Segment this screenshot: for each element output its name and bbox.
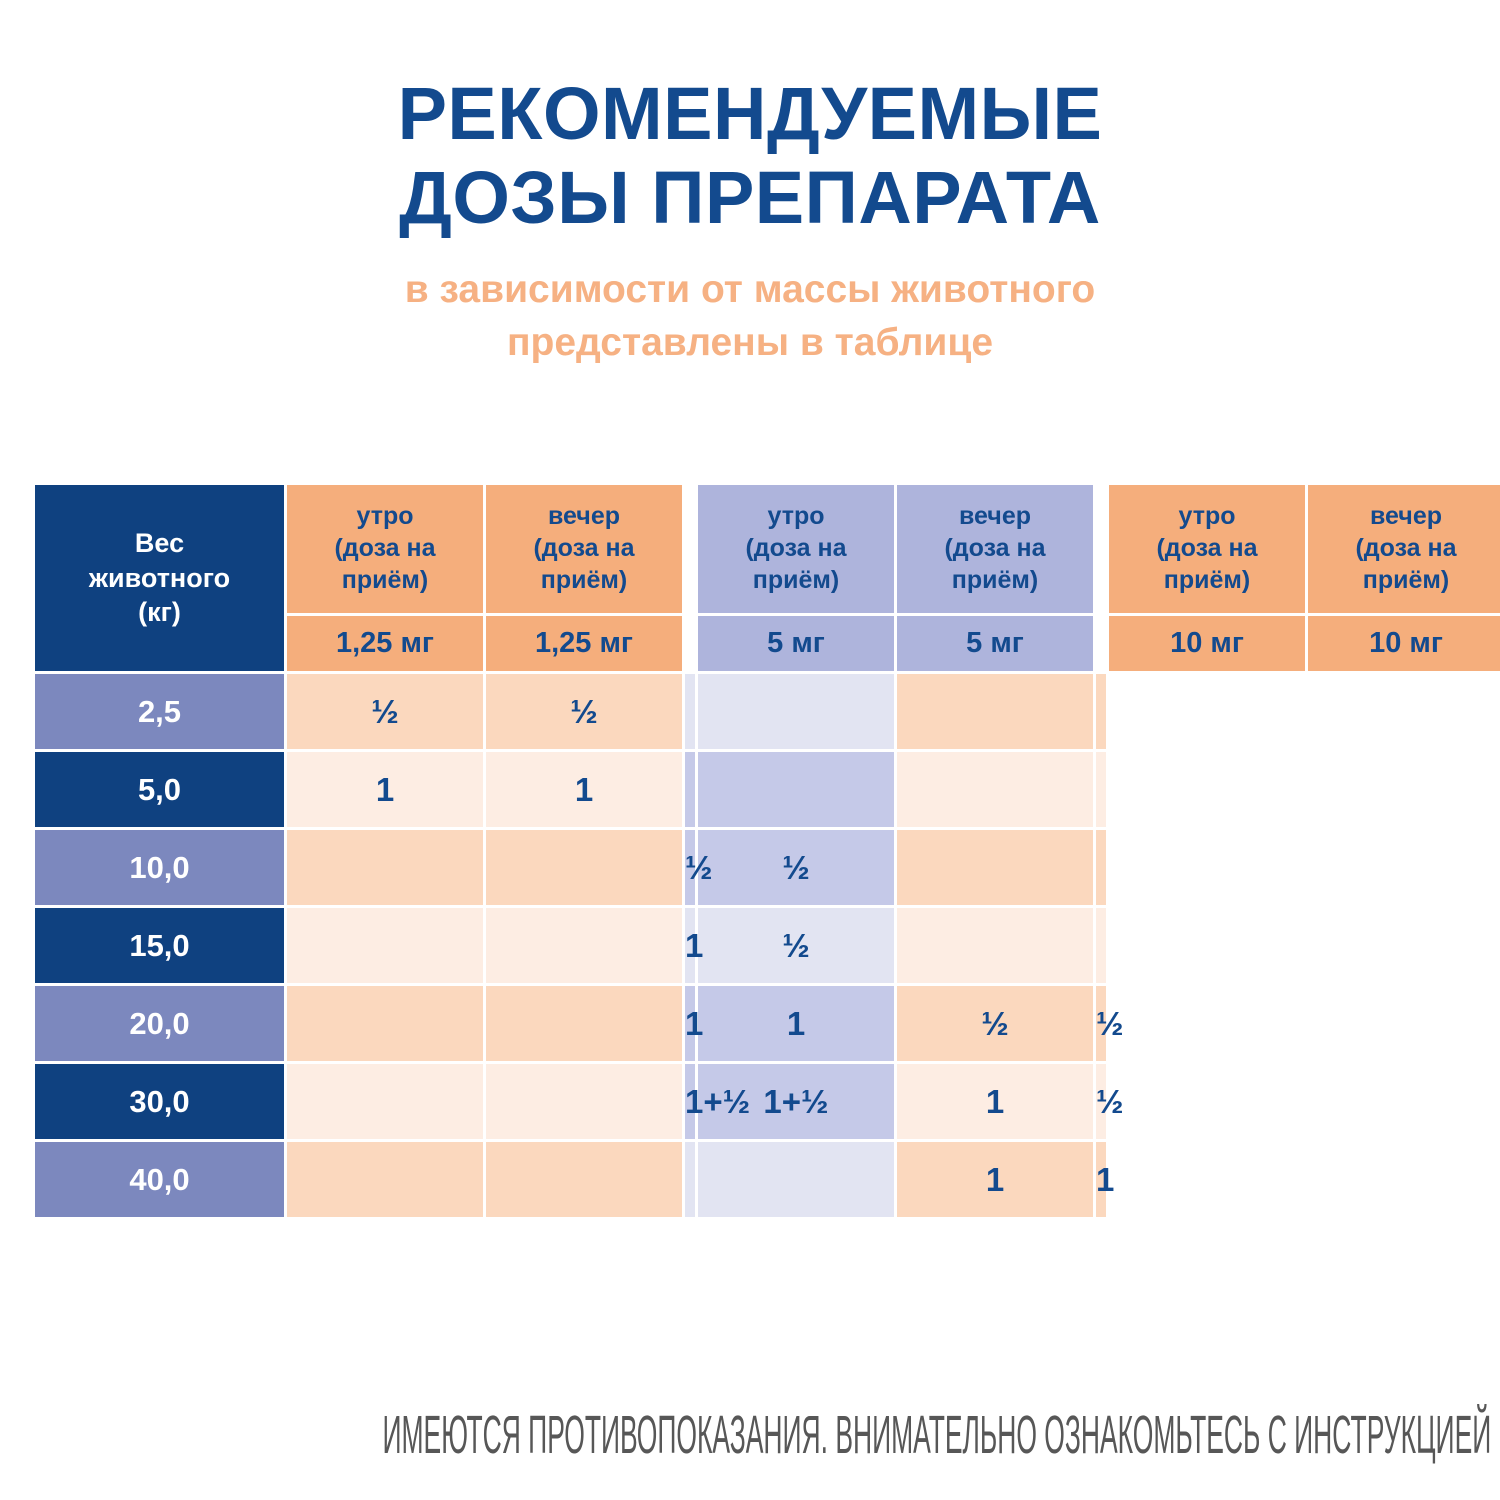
- cell-g3-evening: ½: [1096, 986, 1106, 1061]
- cell-g3-morning: 1: [897, 1064, 1093, 1139]
- group3-morning-period-header: утро (доза на приём): [1109, 485, 1305, 613]
- weight-header-line-3: (кг): [35, 595, 284, 630]
- cell-g1-morning: [287, 1142, 483, 1217]
- table-row: 5,0 1 1: [35, 752, 1500, 827]
- dose-table: Вес животного (кг) утро (доза на приём) …: [32, 482, 1500, 1220]
- period-label-line2: (доза на: [897, 533, 1093, 565]
- page-subtitle-line-2: представлены в таблице: [190, 316, 1310, 369]
- cell-g3-morning: ½: [897, 986, 1093, 1061]
- group3-evening-period-header: вечер (доза на приём): [1308, 485, 1500, 613]
- row-weight-cell: 2,5: [35, 674, 284, 749]
- cell-g2-evening: [698, 1142, 894, 1217]
- group1-morning-period-header: утро (доза на приём): [287, 485, 483, 613]
- period-label-line3: приём): [698, 565, 894, 597]
- group3-evening-dose-header: 10 мг: [1308, 616, 1500, 671]
- period-label-line3: приём): [1308, 565, 1500, 597]
- header-row-periods: Вес животного (кг) утро (доза на приём) …: [35, 485, 1500, 613]
- row-weight-cell: 20,0: [35, 986, 284, 1061]
- table-row: 10,0 ½ ½: [35, 830, 1500, 905]
- cell-g3-morning: [897, 674, 1093, 749]
- weight-header-line-1: Вес: [35, 526, 284, 561]
- disclaimer-text: ИМЕЮТСЯ ПРОТИВОПОКАЗАНИЯ. ВНИМАТЕЛЬНО ОЗ…: [383, 1404, 1118, 1466]
- cell-g1-morning: [287, 986, 483, 1061]
- cell-g2-evening: 1: [698, 986, 894, 1061]
- cell-g1-evening: [486, 908, 682, 983]
- group3-morning-dose-header: 10 мг: [1109, 616, 1305, 671]
- cell-g2-evening: [698, 674, 894, 749]
- cell-g1-morning: 1: [287, 752, 483, 827]
- table-row: 40,0 1 1: [35, 1142, 1500, 1217]
- row-weight-cell: 40,0: [35, 1142, 284, 1217]
- period-label-line2: (доза на: [698, 533, 894, 565]
- dose-table-head: Вес животного (кг) утро (доза на приём) …: [35, 485, 1500, 671]
- cell-g2-morning: 1: [685, 908, 695, 983]
- cell-g3-evening: [1096, 830, 1106, 905]
- cell-g2-evening: ½: [698, 908, 894, 983]
- table-row: 2,5 ½ ½: [35, 674, 1500, 749]
- group-gap-1: [685, 485, 695, 671]
- cell-g1-morning: [287, 830, 483, 905]
- cell-g3-evening: 1: [1096, 1142, 1106, 1217]
- cell-g1-morning: [287, 1064, 483, 1139]
- group1-evening-dose-header: 1,25 мг: [486, 616, 682, 671]
- group1-evening-period-header: вечер (доза на приём): [486, 485, 682, 613]
- group2-evening-dose-header: 5 мг: [897, 616, 1093, 671]
- cell-g1-morning: ½: [287, 674, 483, 749]
- period-label-morning: утро: [1109, 501, 1305, 533]
- page-title: РЕКОМЕНДУЕМЫЕ ДОЗЫ ПРЕПАРАТА: [250, 72, 1250, 239]
- cell-g2-morning: 1: [685, 986, 695, 1061]
- page-subtitle: в зависимости от массы животного предста…: [190, 263, 1310, 369]
- row-weight-cell: 15,0: [35, 908, 284, 983]
- page-title-line-1: РЕКОМЕНДУЕМЫЕ: [398, 72, 1103, 155]
- cell-g3-evening: ½: [1096, 1064, 1106, 1139]
- header-block: РЕКОМЕНДУЕМЫЕ ДОЗЫ ПРЕПАРАТА в зависимос…: [0, 0, 1500, 369]
- period-label-evening: вечер: [486, 501, 682, 533]
- cell-g2-morning: [685, 752, 695, 827]
- cell-g2-morning: [685, 1142, 695, 1217]
- cell-g3-morning: [897, 830, 1093, 905]
- period-label-line3: приём): [1109, 565, 1305, 597]
- cell-g1-morning: [287, 908, 483, 983]
- cell-g1-evening: [486, 986, 682, 1061]
- cell-g2-evening: [698, 752, 894, 827]
- cell-g3-evening: [1096, 752, 1106, 827]
- cell-g3-evening: [1096, 908, 1106, 983]
- cell-g1-evening: ½: [486, 674, 682, 749]
- cell-g2-evening: ½: [698, 830, 894, 905]
- group2-evening-period-header: вечер (доза на приём): [897, 485, 1093, 613]
- dose-table-container: Вес животного (кг) утро (доза на приём) …: [32, 482, 1470, 1220]
- period-label-line3: приём): [897, 565, 1093, 597]
- table-row: 20,0 1 1 ½ ½: [35, 986, 1500, 1061]
- period-label-line2: (доза на: [1109, 533, 1305, 565]
- cell-g3-morning: [897, 908, 1093, 983]
- page-subtitle-line-1: в зависимости от массы животного: [190, 263, 1310, 316]
- page-title-line-2: ДОЗЫ ПРЕПАРАТА: [250, 156, 1250, 240]
- cell-g3-evening: [1096, 674, 1106, 749]
- cell-g1-evening: [486, 1064, 682, 1139]
- group-gap-2: [1096, 485, 1106, 671]
- row-weight-cell: 30,0: [35, 1064, 284, 1139]
- group1-morning-dose-header: 1,25 мг: [287, 616, 483, 671]
- cell-g3-morning: 1: [897, 1142, 1093, 1217]
- table-row: 30,0 1+½ 1+½ 1 ½: [35, 1064, 1500, 1139]
- group2-morning-dose-header: 5 мг: [698, 616, 894, 671]
- period-label-line2: (доза на: [486, 533, 682, 565]
- cell-g1-evening: [486, 830, 682, 905]
- period-label-line2: (доза на: [1308, 533, 1500, 565]
- cell-g2-morning: ½: [685, 830, 695, 905]
- row-weight-cell: 10,0: [35, 830, 284, 905]
- cell-g2-morning: 1+½: [685, 1064, 695, 1139]
- table-row: 15,0 1 ½: [35, 908, 1500, 983]
- period-label-line3: приём): [486, 565, 682, 597]
- period-label-morning: утро: [287, 501, 483, 533]
- period-label-line3: приём): [287, 565, 483, 597]
- dose-table-body: 2,5 ½ ½ 5,0 1 1 10,0 ½: [35, 674, 1500, 1217]
- cell-g3-morning: [897, 752, 1093, 827]
- period-label-line2: (доза на: [287, 533, 483, 565]
- cell-g1-evening: 1: [486, 752, 682, 827]
- weight-header-line-2: животного: [35, 561, 284, 596]
- period-label-evening: вечер: [897, 501, 1093, 533]
- weight-column-header: Вес животного (кг): [35, 485, 284, 671]
- group2-morning-period-header: утро (доза на приём): [698, 485, 894, 613]
- cell-g2-morning: [685, 674, 695, 749]
- cell-g1-evening: [486, 1142, 682, 1217]
- row-weight-cell: 5,0: [35, 752, 284, 827]
- period-label-evening: вечер: [1308, 501, 1500, 533]
- period-label-morning: утро: [698, 501, 894, 533]
